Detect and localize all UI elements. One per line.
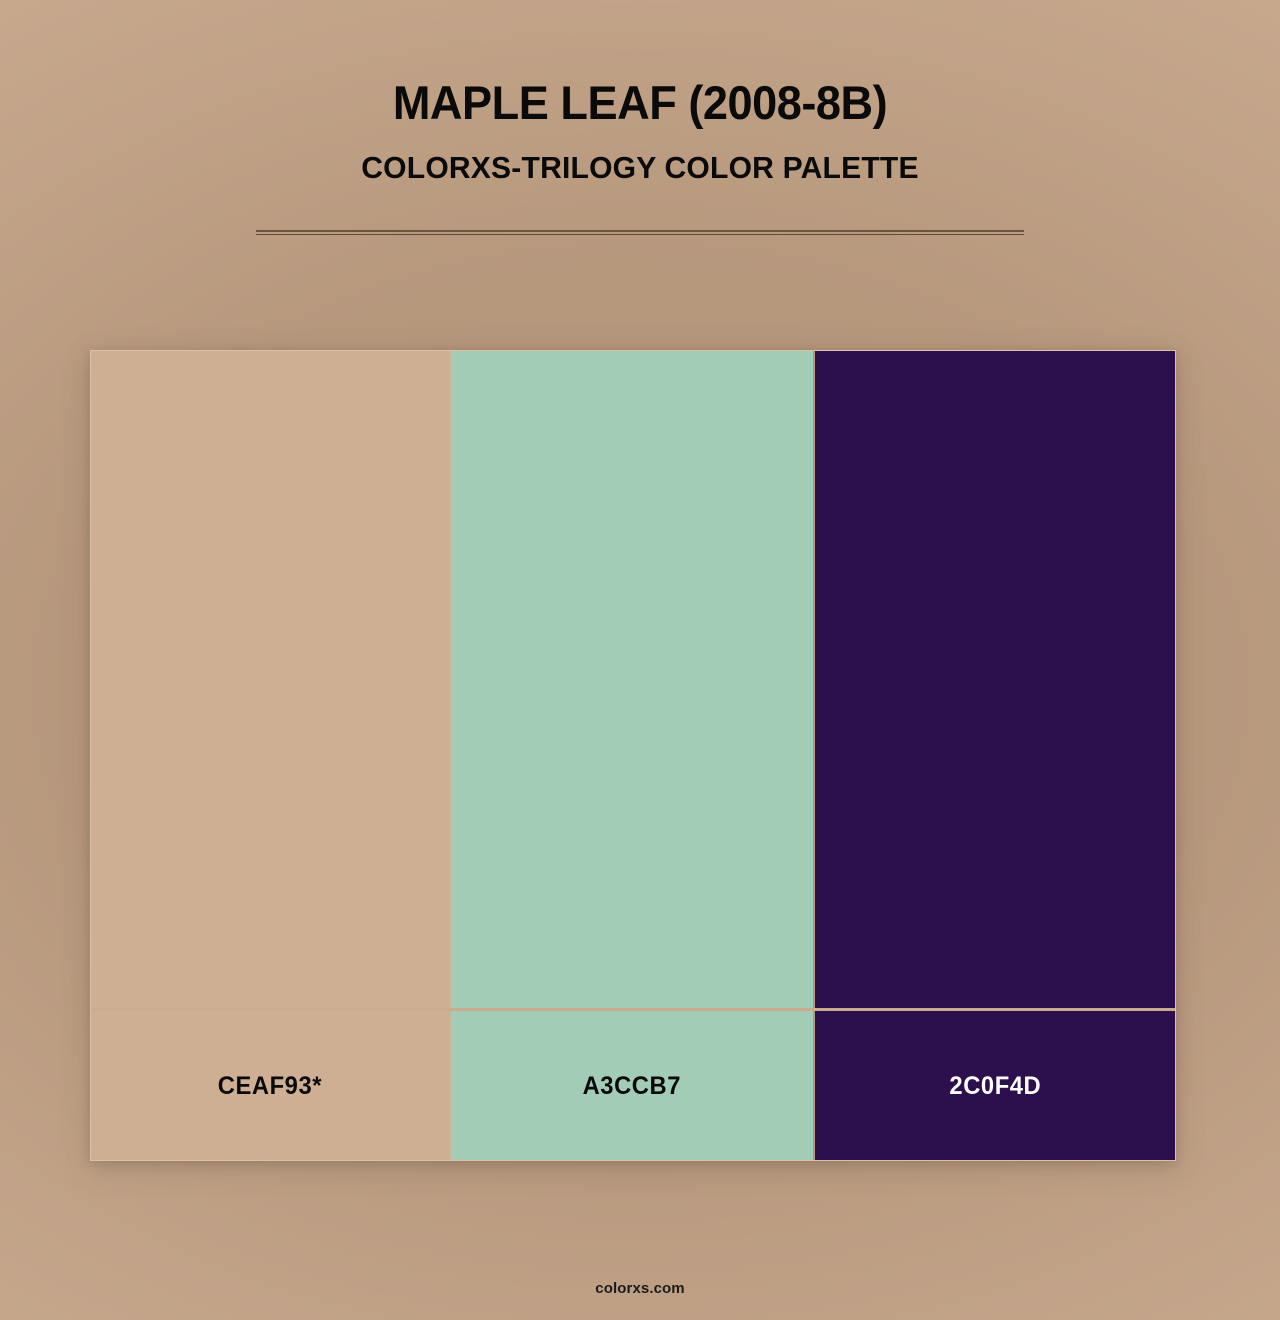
footer-site-label: colorxs.com [595, 1280, 684, 1297]
swatch-hex-label: A3CCB7 [583, 1072, 681, 1101]
page-footer: colorxs.com [0, 1280, 1280, 1298]
color-swatch[interactable] [91, 351, 449, 1008]
swatch-label-cell[interactable]: CEAF93* [91, 1011, 449, 1161]
swatch-hex-label: CEAF93* [218, 1072, 322, 1101]
swatch-label-cell[interactable]: A3CCB7 [449, 1011, 814, 1161]
page-subtitle: COLORXS-TRILOGY COLOR PALETTE [19, 132, 1261, 187]
page-title: MAPLE LEAF (2008-8B) [26, 0, 1255, 132]
palette-page: MAPLE LEAF (2008-8B) COLORXS-TRILOGY COL… [0, 0, 1280, 1320]
header-divider [256, 230, 1024, 235]
swatch-label-cell[interactable]: 2C0F4D [813, 1011, 1175, 1161]
color-swatch[interactable] [813, 351, 1175, 1008]
page-header: MAPLE LEAF (2008-8B) COLORXS-TRILOGY COL… [0, 0, 1280, 187]
swatch-label-row: CEAF93* A3CCB7 2C0F4D [91, 1011, 1175, 1161]
divider-line-top [256, 230, 1024, 232]
palette-card: CEAF93* A3CCB7 2C0F4D [90, 350, 1176, 1161]
swatch-hex-label: 2C0F4D [949, 1072, 1041, 1101]
divider-line-bottom [256, 234, 1024, 235]
swatch-row [91, 351, 1175, 1008]
color-swatch[interactable] [449, 351, 814, 1008]
